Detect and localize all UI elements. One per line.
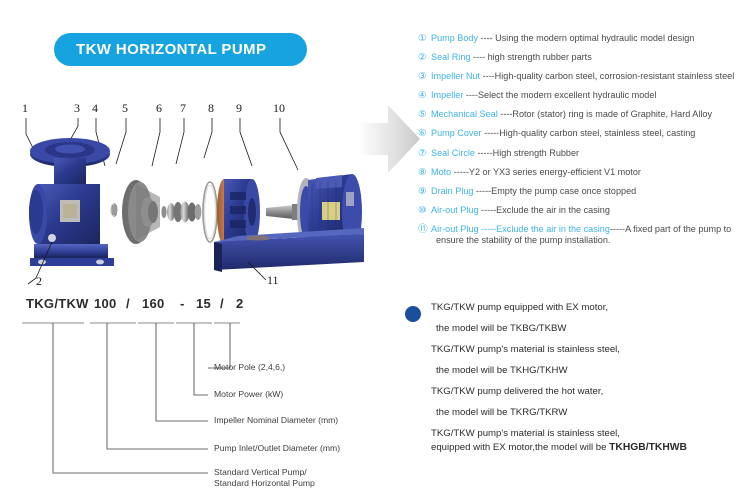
note-line: TKG/TKW pump delivered the hot water, <box>431 386 753 397</box>
legend-number: ⑪ <box>418 224 431 236</box>
callout-number-3: 3 <box>74 101 80 115</box>
legend-description: -----High-quality carbon steel, stainles… <box>482 128 696 138</box>
note-final-prefix: equipped with EX motor,the model will be <box>431 442 609 453</box>
legend-item: ⑧ Moto -----Y2 or YX3 series energy-effi… <box>418 167 754 179</box>
mechanical-seal-part <box>161 202 201 223</box>
legend-description: ----Select the modern excellent hydrauli… <box>463 90 656 100</box>
legend-number: ② <box>418 52 431 64</box>
legend-number: ⑦ <box>418 148 431 160</box>
legend-item: ④ Impeller ----Select the modern excelle… <box>418 90 754 102</box>
note-line: TKG/TKW pump's material is stainless ste… <box>431 344 753 355</box>
legend-term: Air-out Plug <box>431 224 479 234</box>
callout-number-11: 11 <box>267 273 279 287</box>
label-standard-line1: Standard Vertical Pump/ <box>214 467 307 478</box>
legend-number: ④ <box>418 90 431 102</box>
legend-description: ---- Using the modern optimal hydraulic … <box>478 33 694 43</box>
legend-number: ⑩ <box>418 205 431 217</box>
note-final-line2: equipped with EX motor,the model will be… <box>431 442 753 453</box>
callout-number-6: 6 <box>156 101 162 115</box>
component-legend-list: ① Pump Body ---- Using the modern optima… <box>418 33 754 255</box>
legend-number: ⑨ <box>418 186 431 198</box>
legend-description: -----Exclude the air in the casing <box>479 205 610 215</box>
label-impeller-diameter: Impeller Nominal Diameter (mm) <box>214 415 338 426</box>
legend-term: Air-out Plug <box>431 205 479 215</box>
label-motor-pole: Motor Pole (2,4,6,) <box>214 362 285 373</box>
legend-description: ----Rotor (stator) ring is made of Graph… <box>498 109 712 119</box>
label-inlet-outlet: Pump Inlet/Outlet Diameter (mm) <box>214 443 340 454</box>
legend-number: ⑧ <box>418 167 431 179</box>
legend-term: Moto <box>431 167 451 177</box>
legend-item: ② Seal Ring ---- high strength rubber pa… <box>418 52 754 64</box>
note-line: the model will be TKRG/TKRW <box>436 407 753 418</box>
callout-number-5: 5 <box>122 101 128 115</box>
model-variants-notes: TKG/TKW pump equipped with EX motor, the… <box>405 302 753 463</box>
legend-description: ----High-quality carbon steel, corrosion… <box>480 71 734 81</box>
note-line: TKG/TKW pump equipped with EX motor, <box>431 302 753 313</box>
page-title: TKW HORIZONTAL PUMP <box>54 41 266 58</box>
impeller-part <box>122 180 160 244</box>
legend-description: -----A fixed part of the pump to <box>610 224 731 234</box>
legend-term: Impeller Nut <box>431 71 480 81</box>
callout-number-7: 7 <box>180 101 186 115</box>
legend-item: ① Pump Body ---- Using the modern optima… <box>418 33 754 45</box>
seal-circle-part <box>203 182 217 242</box>
note-final-line1: TKG/TKW pump's material is stainless ste… <box>431 428 753 439</box>
legend-item: ⑥ Pump Cover -----High-quality carbon st… <box>418 128 754 140</box>
callout-number-9: 9 <box>236 101 242 115</box>
label-motor-power: Motor Power (kW) <box>214 389 283 400</box>
legend-item: ⑩ Air-out Plug -----Exclude the air in t… <box>418 205 754 217</box>
legend-term: Seal Circle <box>431 148 475 158</box>
legend-item: ⑤ Mechanical Seal ----Rotor (stator) rin… <box>418 109 754 121</box>
callout-number-8: 8 <box>208 101 214 115</box>
callout-numbers-top: 1 3 4 5 6 7 8 9 10 <box>22 101 285 115</box>
note-line: the model will be TKBG/TKBW <box>436 323 753 334</box>
legend-description-blue: -----Exclude the air in the casing <box>479 224 610 234</box>
legend-term: Drain Plug <box>431 186 473 196</box>
breakdown-leader-lines <box>8 296 393 492</box>
right-arrow-icon <box>358 101 420 177</box>
callout-number-10: 10 <box>273 101 285 115</box>
legend-number: ① <box>418 33 431 45</box>
pump-body-part <box>29 138 114 266</box>
model-code-breakdown: TKG/TKW 100 / 160 - 15 / 2 <box>8 296 393 492</box>
note-line: the model will be TKHG/TKHW <box>436 365 753 376</box>
legend-term: Seal Ring <box>431 52 470 62</box>
legend-item: ⑪ Air-out Plug -----Exclude the air in t… <box>418 224 754 247</box>
note-final-model: TKHGB/TKHWB <box>609 442 687 453</box>
callout-number-1: 1 <box>22 101 28 115</box>
legend-number: ③ <box>418 71 431 83</box>
exploded-pump-diagram: 1 3 4 5 6 7 8 9 10 <box>8 92 368 287</box>
legend-number: ⑤ <box>418 109 431 121</box>
callout-number-4: 4 <box>92 101 98 115</box>
legend-number: ⑥ <box>418 128 431 140</box>
bullet-dot-icon <box>405 306 421 322</box>
page-title-banner: TKW HORIZONTAL PUMP <box>54 33 307 66</box>
legend-term: Mechanical Seal <box>431 109 498 119</box>
legend-description: -----Y2 or YX3 series energy-efficient V… <box>451 167 641 177</box>
legend-description: -----High strength Rubber <box>475 148 579 158</box>
label-standard-line2: Standard Horizontal Pump <box>214 478 315 489</box>
legend-term: Pump Body <box>431 33 478 43</box>
legend-description: ---- high strength rubber parts <box>470 52 591 62</box>
legend-term: Impeller <box>431 90 463 100</box>
legend-item: ③ Impeller Nut ----High-quality carbon s… <box>418 71 754 83</box>
legend-item: ⑨ Drain Plug -----Empty the pump case on… <box>418 186 754 198</box>
impeller-nut-part <box>111 203 118 217</box>
callout-number-2: 2 <box>36 274 42 287</box>
legend-item: ⑦ Seal Circle -----High strength Rubber <box>418 148 754 160</box>
legend-description-line2: ensure the stability of the pump install… <box>431 235 754 247</box>
legend-term: Pump Cover <box>431 128 482 138</box>
legend-description: -----Empty the pump case once stopped <box>473 186 636 196</box>
